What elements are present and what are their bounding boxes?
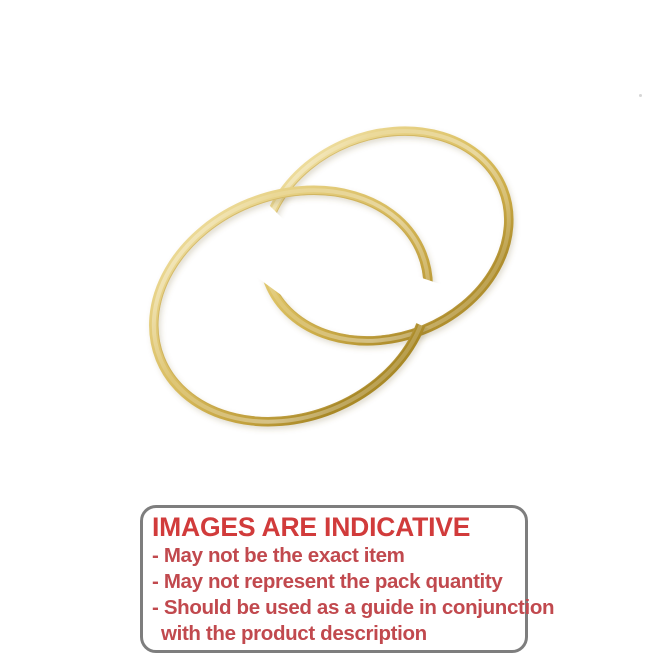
product-photo bbox=[0, 0, 670, 480]
front-o-ring bbox=[119, 150, 464, 461]
disclaimer-notice: IMAGES ARE INDICATIVE - May not be the e… bbox=[140, 505, 528, 653]
back-o-ring bbox=[231, 95, 540, 377]
product-image-canvas: IMAGES ARE INDICATIVE - May not be the e… bbox=[0, 0, 670, 670]
disclaimer-text-block: IMAGES ARE INDICATIVE - May not be the e… bbox=[152, 511, 524, 647]
o-rings-illustration bbox=[0, 0, 670, 480]
notice-line-4: with the product description bbox=[152, 621, 524, 647]
notice-line-1: - May not be the exact item bbox=[152, 543, 524, 569]
notice-line-2: - May not represent the pack quantity bbox=[152, 569, 524, 595]
photo-speck bbox=[639, 94, 642, 97]
notice-title: IMAGES ARE INDICATIVE bbox=[152, 511, 524, 543]
notice-line-3: - Should be used as a guide in conjuncti… bbox=[152, 595, 524, 621]
